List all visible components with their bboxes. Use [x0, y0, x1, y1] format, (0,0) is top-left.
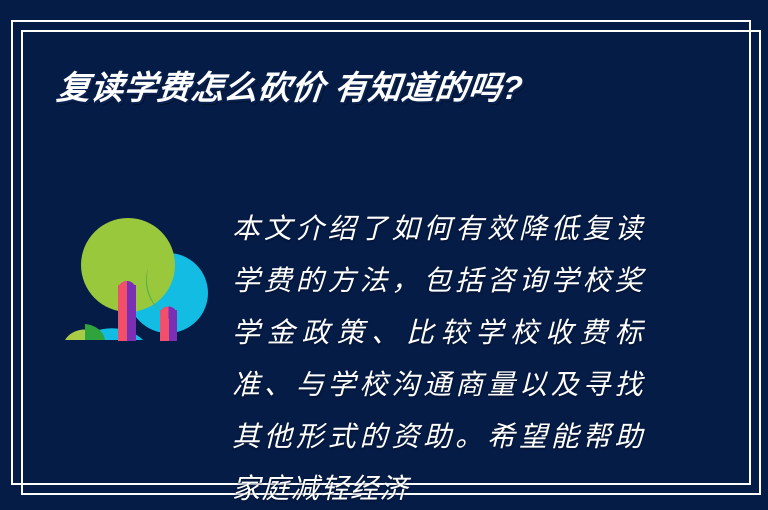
article-cover-card: 复读学费怎么砍价 有知道的吗? [0, 0, 768, 510]
page-title: 复读学费怎么砍价 有知道的吗? [55, 68, 699, 108]
article-summary-text: 本文介绍了如何有效降低复读学费的方法，包括咨询学校奖学金政策、比较学校收费标准、… [232, 203, 644, 510]
tree-illustration-svg [63, 200, 223, 370]
tree-illustration [63, 200, 223, 370]
